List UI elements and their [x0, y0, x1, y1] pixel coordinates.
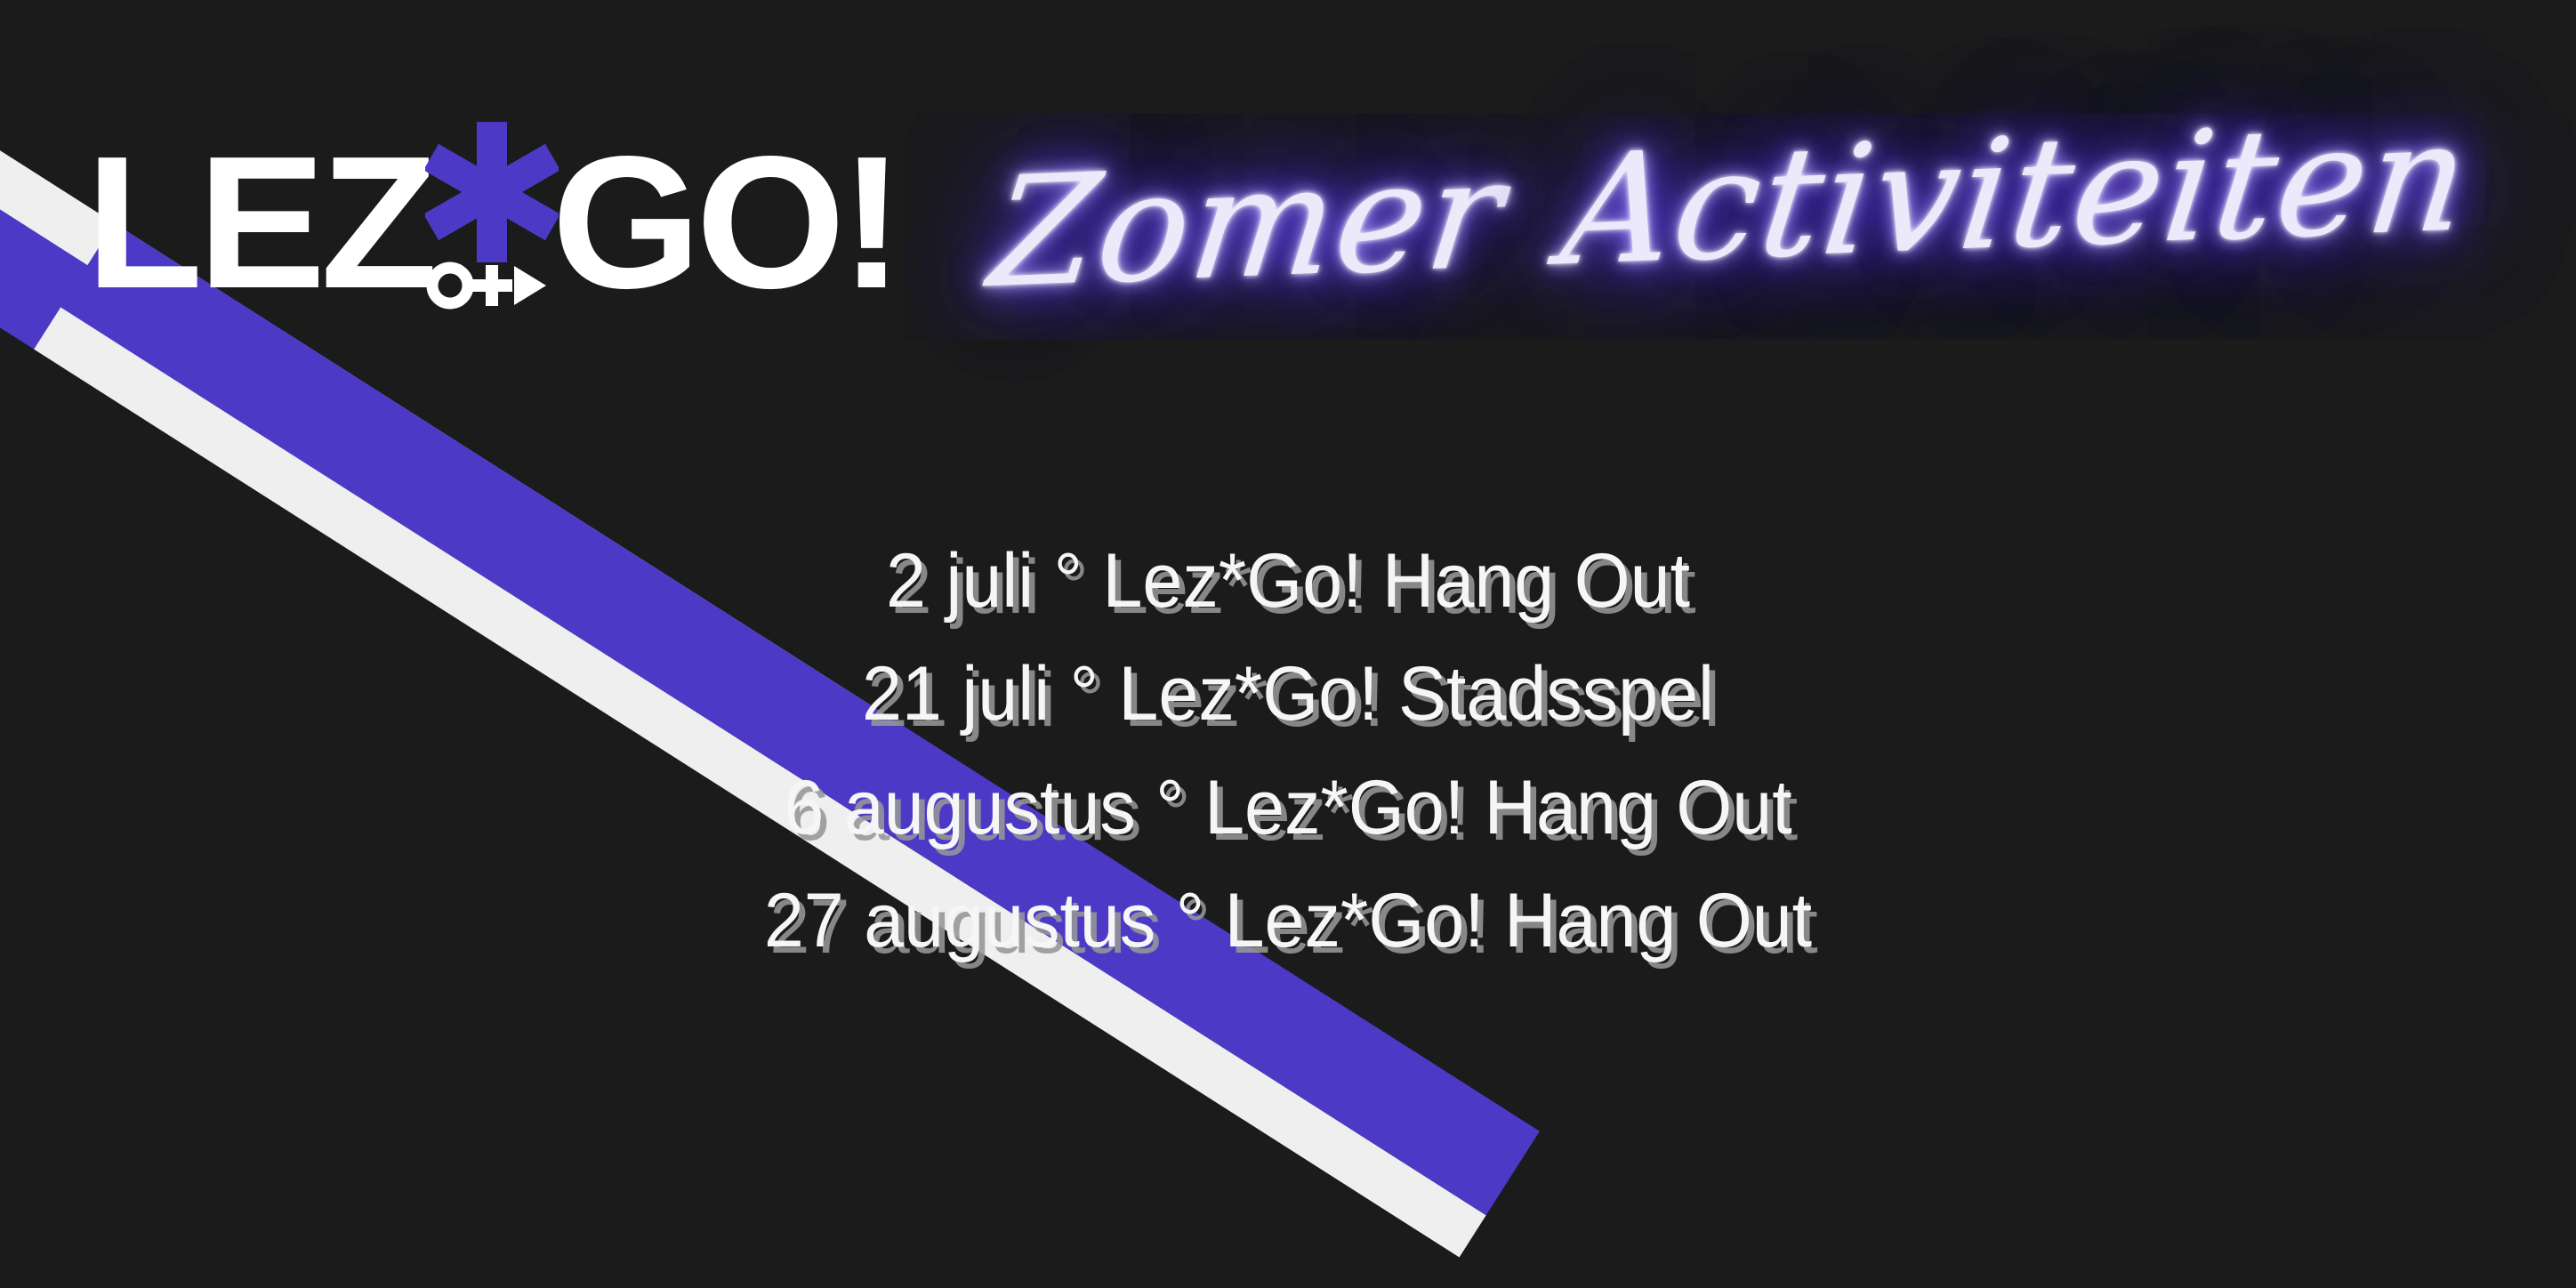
neon-word-zomer: Zomer: [982, 125, 1513, 322]
logo-text-go: GO!: [552, 138, 899, 308]
logo-text-lez: LEZ: [85, 138, 432, 308]
lezgo-logo: LEZ: [89, 107, 896, 338]
combined-gender-symbol-icon: [425, 120, 559, 325]
event-list-item: 21 juli ° Lez*Go! Stadsspel: [77, 638, 2499, 751]
event-list-item: 27 augustus ° Lez*Go! Hang Out: [77, 865, 2499, 978]
logo-symbol-group: [425, 120, 559, 325]
event-list: 2 juli ° Lez*Go! Hang Out 21 juli ° Lez*…: [0, 525, 2576, 978]
neon-word-gap: [1496, 263, 1558, 266]
event-list-item: 6 augustus ° Lez*Go! Hang Out: [77, 752, 2499, 865]
header: LEZ: [0, 107, 2576, 356]
neon-word-activiteiten: Activiteiten: [1554, 89, 2479, 301]
poster-canvas: LEZ: [0, 0, 2576, 1288]
event-list-item: 2 juli ° Lez*Go! Hang Out: [77, 525, 2499, 638]
neon-headline: ZomerActiviteiten: [983, 101, 2476, 310]
